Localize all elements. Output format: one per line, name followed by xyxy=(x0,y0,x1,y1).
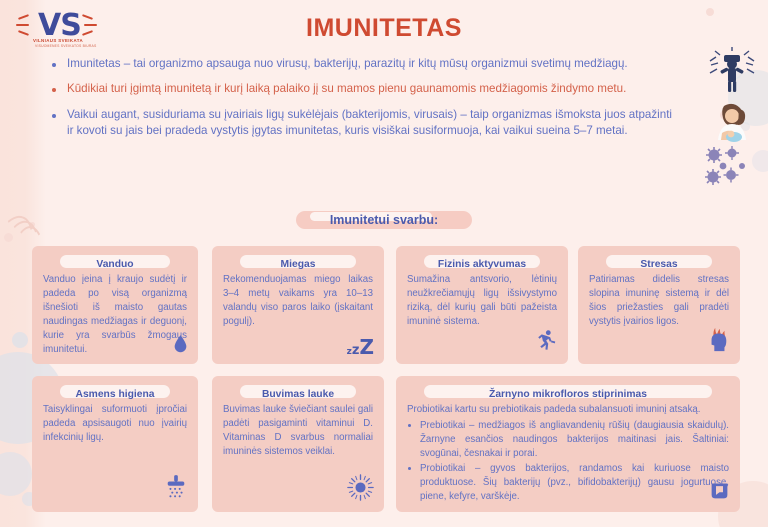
deco-circle xyxy=(4,233,13,242)
person-sneezing-icon xyxy=(704,47,760,93)
card-header: Žarnyno mikrofloros stiprinimas xyxy=(407,384,729,399)
card-header: Miegas xyxy=(223,254,373,269)
card-sub-list: Prebiotikai – medžiagos iš angliavandeni… xyxy=(407,419,729,504)
card-body: Patiriamas didelis stresas slopina imuni… xyxy=(589,273,729,329)
card-title: Asmens higiena xyxy=(76,389,155,400)
virus-cells-icon xyxy=(702,146,758,192)
sleep-zzz-icon: zzZ xyxy=(347,337,374,357)
deco-circle xyxy=(0,452,32,496)
yogurt-cup-icon xyxy=(709,480,730,505)
mother-breastfeeding-icon xyxy=(708,100,756,144)
logo-subtitle-secondary: VISUOMENES SVEIKATOS BIURAS xyxy=(35,44,96,48)
card-header: Asmens higiena xyxy=(43,384,187,399)
card-body: Taisyklingai suformuoti įpročiai padeda … xyxy=(43,403,187,445)
running-person-icon xyxy=(534,329,558,357)
shower-icon xyxy=(164,475,188,505)
card-title: Stresas xyxy=(640,259,677,270)
section-banner-pill: Imunitetui svarbu: xyxy=(296,209,472,231)
intro-bullet-text: Imunitetas – tai organizmo apsauga nuo v… xyxy=(67,56,672,72)
deco-circle xyxy=(12,332,28,348)
card-title: Buvimas lauke xyxy=(262,389,334,400)
bullet-dot-icon xyxy=(52,114,56,118)
card-body: Sumažina antsvorio, lėtinių neužkrečiamų… xyxy=(407,273,557,329)
card-vanduo: Vanduo Vanduo įeina į kraujo sudėtį ir p… xyxy=(32,246,198,364)
card-header: Vanduo xyxy=(43,254,187,269)
card-title: Žarnyno mikrofloros stiprinimas xyxy=(489,389,647,400)
card-title: Fizinis aktyvumas xyxy=(438,259,526,270)
bullet-dot-icon xyxy=(52,88,56,92)
card-header: Buvimas lauke xyxy=(223,384,373,399)
sun-icon xyxy=(347,474,374,505)
card-miegas: Miegas Rekomenduojamas miego laikas 3–4 … xyxy=(212,246,384,364)
intro-bullet-item: Imunitetas – tai organizmo apsauga nuo v… xyxy=(52,56,672,72)
page-title: IMUNITETAS xyxy=(0,14,768,43)
card-body: Rekomenduojamas miego laikas 3–4 metų va… xyxy=(223,273,373,329)
water-drop-icon xyxy=(173,334,188,357)
intro-bullet-item: Kūdikiai turi įgimtą imunitetą ir kurį l… xyxy=(52,81,672,97)
intro-bullet-text: Kūdikiai turi įgimtą imunitetą ir kurį l… xyxy=(67,81,672,97)
bullet-dot-icon xyxy=(52,63,56,67)
stressed-head-icon xyxy=(706,327,730,357)
card-buvimas-lauke: Buvimas lauke Buvimas lauke šviečiant sa… xyxy=(212,376,384,512)
card-asmens-higiena: Asmens higiena Taisyklingai suformuoti į… xyxy=(32,376,198,512)
card-title: Miegas xyxy=(281,259,316,270)
card-header: Stresas xyxy=(589,254,729,269)
list-item: Probiotikai – gyvos bakterijos, randamos… xyxy=(420,462,729,504)
card-body: Vanduo įeina į kraujo sudėtį ir padeda p… xyxy=(43,273,187,357)
card-stresas: Stresas Patiriamas didelis stresas slopi… xyxy=(578,246,740,364)
section-banner: Imunitetui svarbu: xyxy=(0,209,768,231)
intro-bullet-text: Vaikui augant, susiduriama su įvairiais … xyxy=(67,107,672,140)
card-header: Fizinis aktyvumas xyxy=(407,254,557,269)
card-title: Vanduo xyxy=(96,259,133,270)
card-zarnyno-mikroflora: Žarnyno mikrofloros stiprinimas Probioti… xyxy=(396,376,740,512)
list-item: Prebiotikai – medžiagos iš angliavandeni… xyxy=(420,419,729,461)
card-body: Probiotikai kartu su prebiotikais padeda… xyxy=(407,403,729,417)
card-body: Buvimas lauke šviečiant saulei gali padė… xyxy=(223,403,373,459)
intro-bullet-list: Imunitetas – tai organizmo apsauga nuo v… xyxy=(52,56,672,149)
section-banner-label: Imunitetui svarbu: xyxy=(330,213,438,227)
card-fizinis-aktyvumas: Fizinis aktyvumas Sumažina antsvorio, lė… xyxy=(396,246,568,364)
infographic-page: VS VILNIAUS SVEIKATA VISUOMENES SVEIKATO… xyxy=(0,0,768,527)
intro-bullet-item: Vaikui augant, susiduriama su įvairiais … xyxy=(52,107,672,140)
